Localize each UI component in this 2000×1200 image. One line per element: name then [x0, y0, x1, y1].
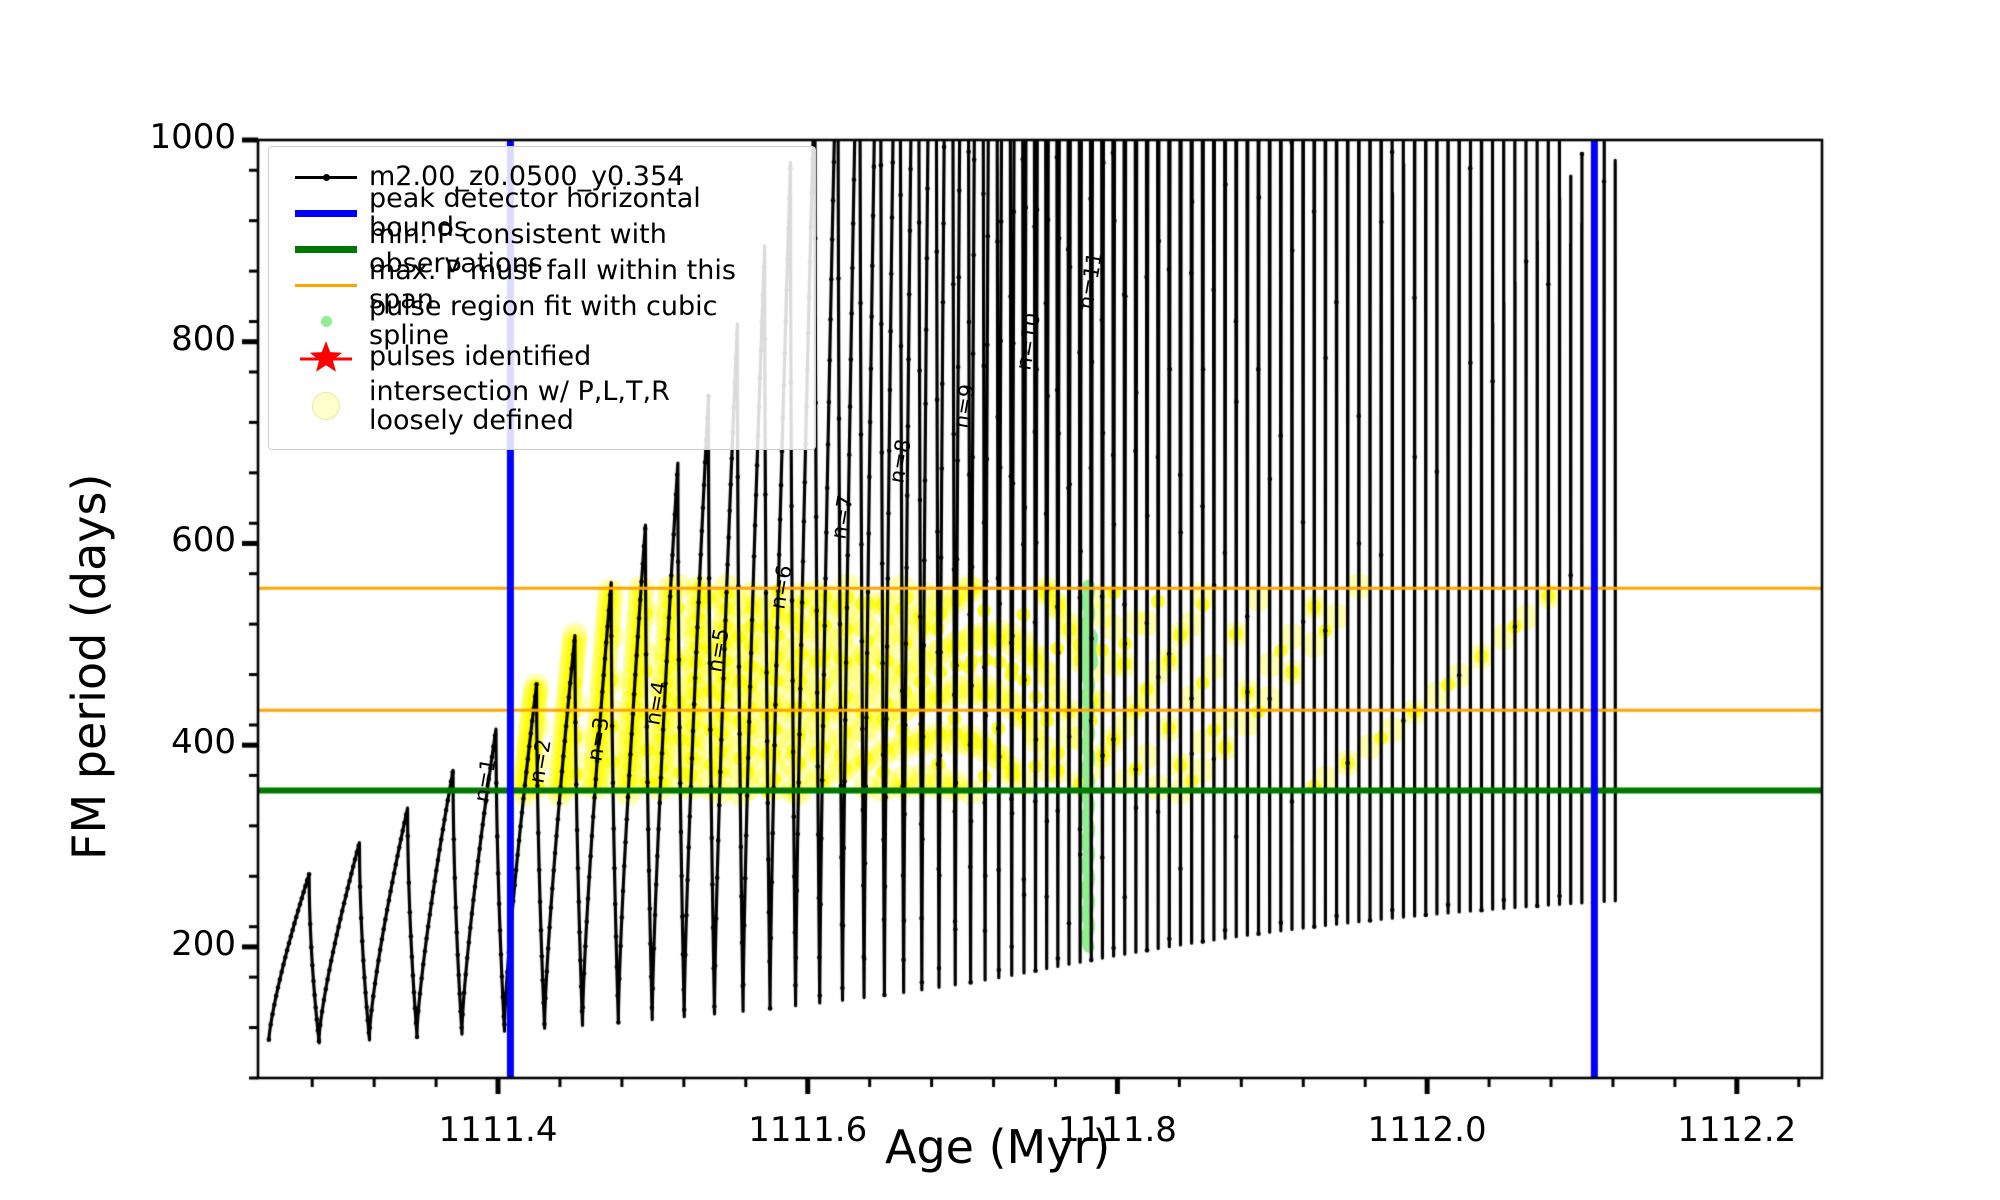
x-tick-label: 1111.6	[678, 1110, 938, 1150]
line-swatch	[295, 210, 357, 217]
y-tick-label: 400	[8, 722, 236, 762]
legend-item-label: pulses identified	[369, 342, 591, 371]
legend-item-label: intersection w/ P,L,T,R loosely defined	[369, 377, 670, 435]
legend-item-4[interactable]: pulse region fit with cubic spline	[283, 303, 801, 339]
marker-dot-icon	[323, 174, 330, 181]
legend-dot-icon	[283, 388, 369, 424]
line-swatch	[295, 284, 357, 287]
dot-swatch	[312, 392, 340, 420]
x-tick-label: 1112.0	[1297, 1110, 1557, 1150]
dot-swatch	[321, 316, 332, 327]
x-tick-label: 1111.4	[368, 1110, 628, 1150]
legend-line-icon	[283, 195, 369, 231]
y-tick-label: 1000	[8, 117, 236, 157]
x-tick-label: 1111.8	[987, 1110, 1247, 1150]
y-tick-label: 800	[8, 319, 236, 359]
legend-line-icon	[283, 267, 369, 303]
legend-line-icon	[283, 231, 369, 267]
line-swatch	[295, 246, 357, 253]
legend-line-marker-icon	[283, 159, 369, 195]
legend-item-6[interactable]: intersection w/ P,L,T,R loosely defined	[283, 375, 801, 437]
chart-legend[interactable]: m2.00_z0.0500_y0.354peak detector horizo…	[268, 146, 816, 450]
legend-star-icon	[283, 339, 369, 375]
figure-root: FM period (days) Age (Myr) 2004006008001…	[0, 0, 2000, 1200]
y-tick-label: 200	[8, 924, 236, 964]
y-tick-label: 600	[8, 520, 236, 560]
legend-dot-icon	[283, 303, 369, 339]
x-tick-label: 1112.2	[1607, 1110, 1867, 1150]
